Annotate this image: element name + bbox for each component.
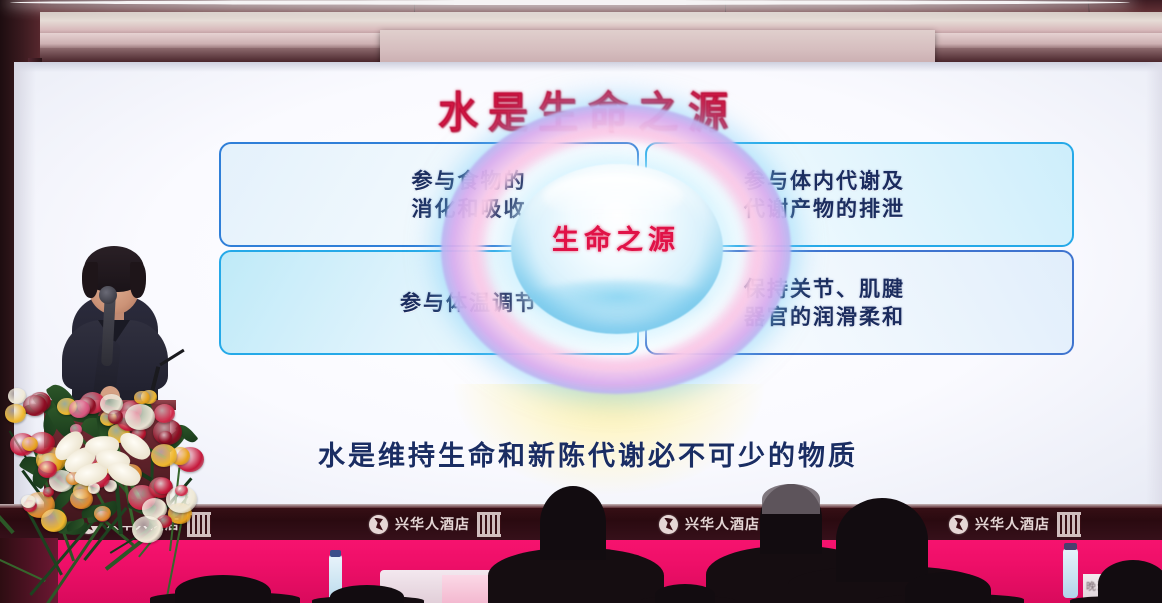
banner-text: 兴华人酒店 xyxy=(395,514,470,534)
orb-shadow xyxy=(527,280,709,322)
presenter-hair-left xyxy=(82,262,98,298)
orb-center-label: 生命之源 xyxy=(431,218,801,257)
flower-bloom xyxy=(88,483,100,493)
flower-bloom xyxy=(125,404,154,430)
banner-text: 兴华人酒店 xyxy=(975,514,1050,534)
audience-head xyxy=(836,498,928,582)
table-card xyxy=(442,575,492,603)
presenter-hair-right xyxy=(130,262,146,298)
conference-room-photo: 水是生命之源 参与食物的 消化和吸收 参与体内代谢及 代谢产物的排泄 参与体温调… xyxy=(0,0,1162,603)
water-bottle-cap xyxy=(1064,543,1077,550)
screen-top-edge xyxy=(14,62,1162,72)
presenter-at-podium xyxy=(0,236,205,526)
flower-bloom xyxy=(38,461,58,478)
flower-bloom xyxy=(94,506,111,521)
hotel-circle-logo-icon xyxy=(369,515,388,534)
hotel-circle-logo-icon xyxy=(949,515,968,534)
flower-bloom xyxy=(159,431,172,443)
flower-bloom xyxy=(175,485,187,496)
audience-head xyxy=(175,575,271,603)
flower-bloom xyxy=(134,391,150,405)
water-bottle-cap xyxy=(330,550,341,557)
microphone-head-icon xyxy=(99,286,117,304)
banner-text: 兴华人酒店 xyxy=(685,514,760,534)
banner-unit: 兴华人酒店 xyxy=(580,512,870,537)
banner-seal-icon xyxy=(477,512,501,537)
flower-bloom xyxy=(154,404,175,423)
hotel-circle-logo-icon xyxy=(659,515,678,534)
flower-arrangement xyxy=(0,332,190,532)
foliage-stem xyxy=(0,464,14,533)
audience-head xyxy=(1098,560,1162,603)
screen-right-edge xyxy=(1146,62,1162,504)
audience-grey-hair xyxy=(762,484,820,514)
flower-bloom xyxy=(151,444,177,467)
audience-head xyxy=(540,486,606,560)
flower-bloom xyxy=(154,478,172,494)
water-bottle xyxy=(1063,548,1078,598)
banner-unit: 兴华人酒店 xyxy=(290,512,580,537)
flower-bloom xyxy=(5,404,26,422)
flower-bloom xyxy=(108,410,123,424)
flower-bloom xyxy=(8,388,26,404)
audience-head xyxy=(905,572,991,603)
flower-bloom xyxy=(41,509,67,532)
banner-seal-icon xyxy=(1057,512,1081,537)
flower-bloom xyxy=(132,516,163,543)
screen-glow xyxy=(10,0,1130,5)
flower-bloom xyxy=(22,437,37,451)
orb-highlight-icon xyxy=(543,174,683,220)
audience-head xyxy=(330,585,404,603)
water-drop-orb-graphic: 生命之源 xyxy=(431,84,801,414)
audience-head xyxy=(655,584,715,603)
